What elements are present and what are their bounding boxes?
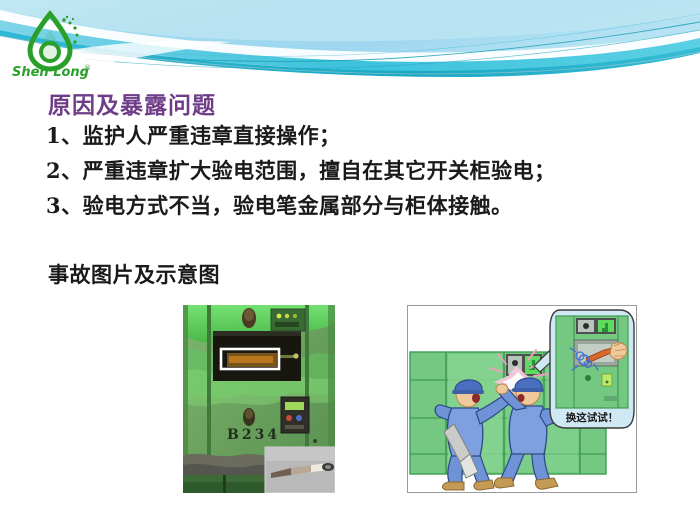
incident-illustration: 换这试试！ (407, 305, 637, 493)
page-title: 原因及暴露问题 (48, 86, 216, 120)
list-item: 2、严重违章扩大验电范围，擅自在其它开关柜验电； (46, 153, 676, 188)
list-item: 3、验电方式不当，验电笔金属部分与柜体接触。 (46, 188, 676, 223)
voltage-tester-pen-inset (265, 447, 335, 493)
logo-brand-text: Shen Long (12, 65, 89, 80)
accident-photo: B234 (183, 305, 335, 493)
shen-long-logo: Shen Long ® (10, 8, 102, 80)
cause-list: 1、监护人严重违章直接操作； 2、严重违章扩大验电范围，擅自在其它开关柜验电； … (46, 118, 676, 223)
callout-text: 换这试试！ (566, 411, 619, 424)
cabinet-id-label: B234 (227, 427, 280, 443)
presentation-slide: Shen Long ® 原因及暴露问题 1、监护人严重违章直接操作； 2、严重违… (0, 0, 700, 525)
list-item: 1、监护人严重违章直接操作； (46, 118, 676, 153)
section-subtitle: 事故图片及示意图 (48, 259, 220, 289)
bubble-cabinet-closeup (556, 316, 628, 408)
wave-banner (0, 0, 700, 92)
figures-row: B234 (0, 300, 700, 500)
logo-registered-mark: ® (84, 64, 91, 72)
